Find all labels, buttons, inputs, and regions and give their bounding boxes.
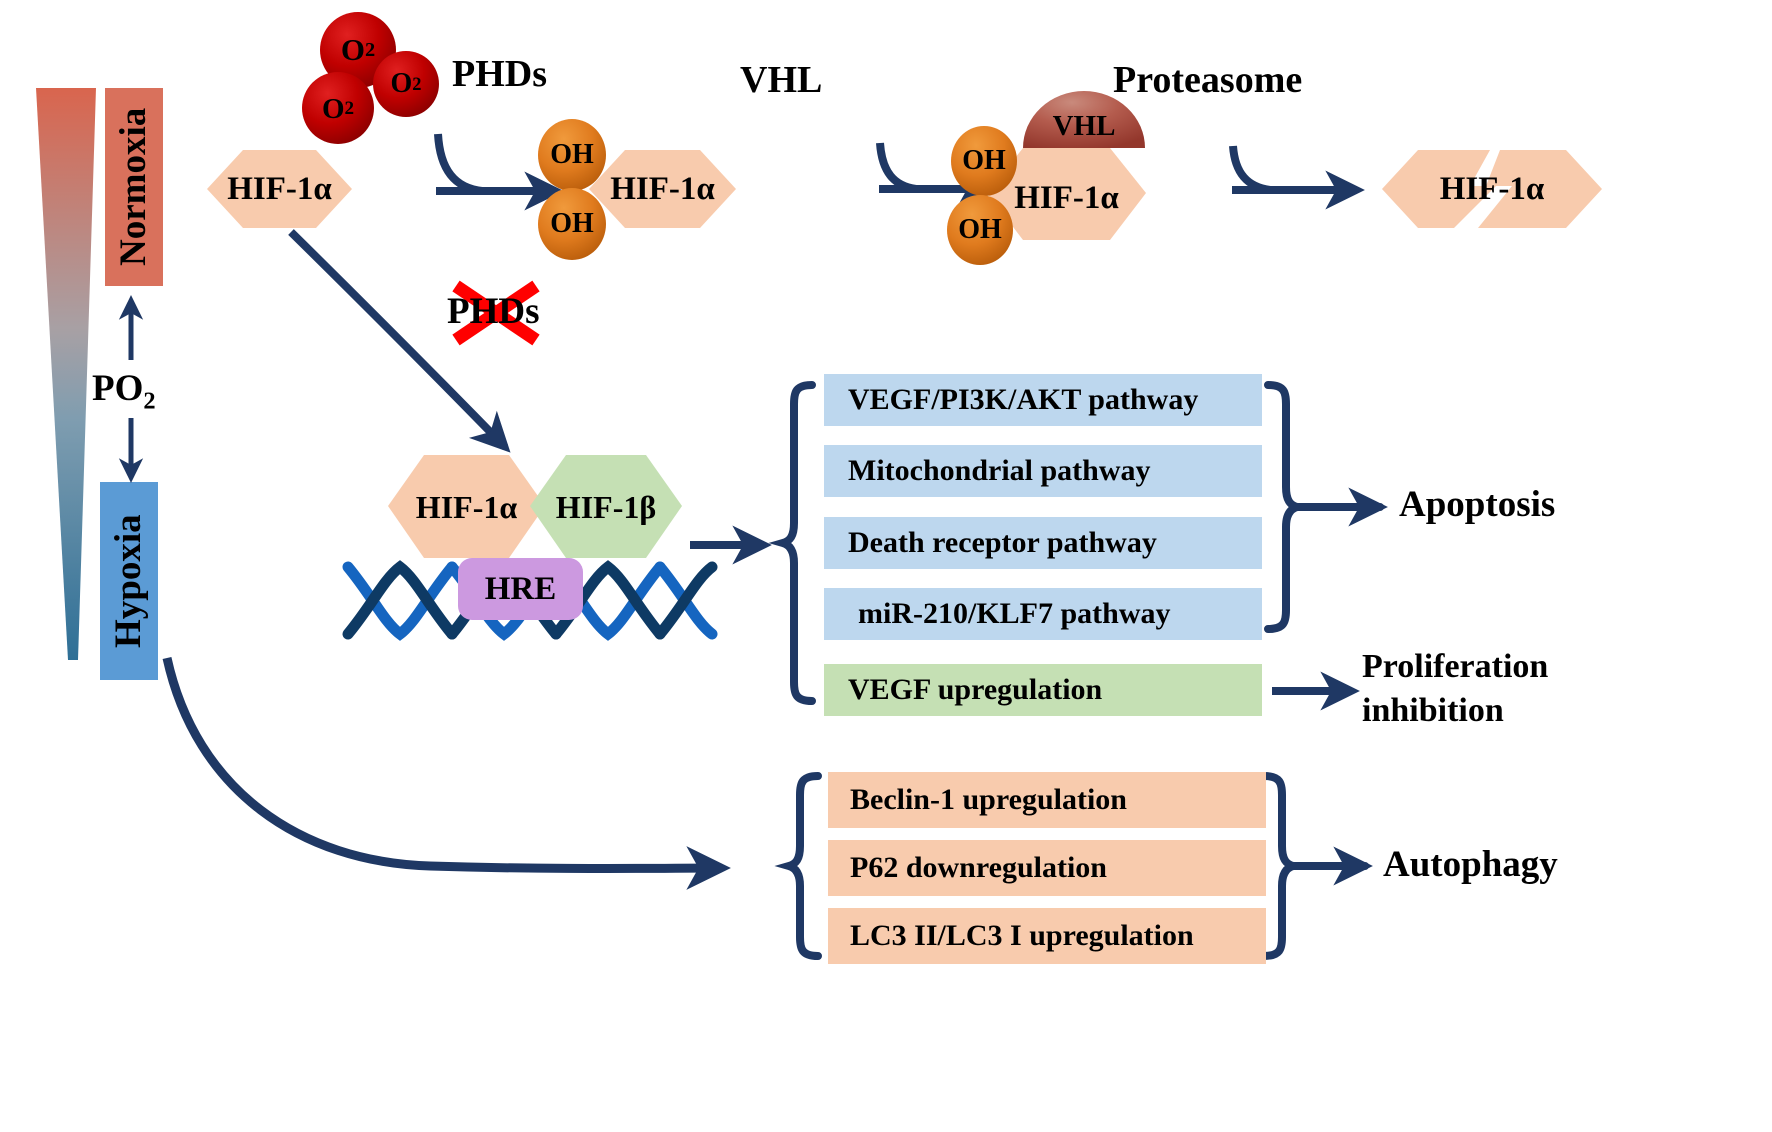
hif1a-hexagon-hydroxylated [589, 150, 736, 228]
o2-sphere-2 [373, 51, 439, 117]
autophagy-outcome-label: Autophagy [1383, 843, 1558, 886]
o2-sphere-3 [302, 72, 374, 144]
pathway-row-death-receptor[interactable]: Death receptor pathway [824, 517, 1262, 569]
po2-label: PO2 [92, 367, 156, 415]
oxygen-molecule-group [302, 12, 439, 144]
autophagy-left-brace [789, 776, 818, 956]
po2-text: PO [92, 368, 143, 409]
pathway-row-mir210-klf7[interactable]: miR-210/KLF7 pathway [824, 588, 1262, 640]
oh-sphere-upper-2 [951, 126, 1017, 196]
phds-reaction-arrow [436, 134, 556, 191]
apoptosis-outcome-label: Apoptosis [1399, 483, 1555, 526]
hif1a-hexagon-degraded [1382, 150, 1602, 228]
pathway-label: P62 downregulation [850, 851, 1107, 885]
oh-sphere-lower-2 [947, 195, 1013, 265]
apoptosis-right-brace [1268, 385, 1380, 629]
pathway-row-vegf-upregulation[interactable]: VEGF upregulation [824, 664, 1262, 716]
pathway-row-vegf-pi3k-akt[interactable]: VEGF/PI3K/AKT pathway [824, 374, 1262, 426]
po2-subscript: 2 [143, 387, 155, 414]
proteasome-reaction-arrow [1232, 146, 1357, 190]
phds-blocked-label: PHDs [447, 290, 540, 333]
hypoxia-label: Hypoxia [107, 486, 150, 676]
pathway-label: Death receptor pathway [848, 526, 1157, 560]
pathway-label: Mitochondrial pathway [848, 454, 1151, 488]
pathway-row-beclin1[interactable]: Beclin-1 upregulation [828, 772, 1266, 828]
hypoxia-branch-arrow [291, 232, 505, 447]
pathway-row-p62[interactable]: P62 downregulation [828, 840, 1266, 896]
oh-sphere-lower-1 [538, 188, 606, 260]
vhl-enzyme-label: VHL [740, 58, 822, 102]
hif1a-hexagon-normoxic [207, 150, 352, 228]
pathway-label: VEGF/PI3K/AKT pathway [848, 383, 1198, 417]
pathways-left-brace [783, 385, 812, 701]
autophagy-right-brace [1264, 776, 1365, 956]
hypoxia-to-autophagy-curve [167, 658, 722, 869]
pathway-label: VEGF upregulation [848, 673, 1102, 707]
diagram-canvas: Normoxia Hypoxia PO2 O2 O2 O2 PHDs VHL P… [0, 0, 1772, 1132]
po2-gradient-wedge [36, 88, 96, 660]
proliferation-outcome-label: Proliferation inhibition [1362, 645, 1642, 732]
hre-box [458, 558, 583, 620]
pathway-label: LC3 II/LC3 I upregulation [850, 919, 1194, 953]
normoxia-label: Normoxia [112, 92, 155, 282]
pathway-row-lc3[interactable]: LC3 II/LC3 I upregulation [828, 908, 1266, 964]
oh-sphere-upper-1 [538, 119, 606, 191]
pathway-label: Beclin-1 upregulation [850, 783, 1127, 817]
hif1a-hexagon-dimer [388, 455, 545, 558]
proteasome-label: Proteasome [1113, 58, 1302, 102]
pathway-label: miR-210/KLF7 pathway [858, 597, 1171, 631]
proliferation-outcome-line1: Proliferation [1362, 645, 1642, 689]
hif1b-hexagon-dimer [530, 455, 682, 558]
proliferation-outcome-line2: inhibition [1362, 689, 1642, 733]
pathway-row-mitochondrial[interactable]: Mitochondrial pathway [824, 445, 1262, 497]
phds-enzyme-label: PHDs [452, 52, 547, 96]
